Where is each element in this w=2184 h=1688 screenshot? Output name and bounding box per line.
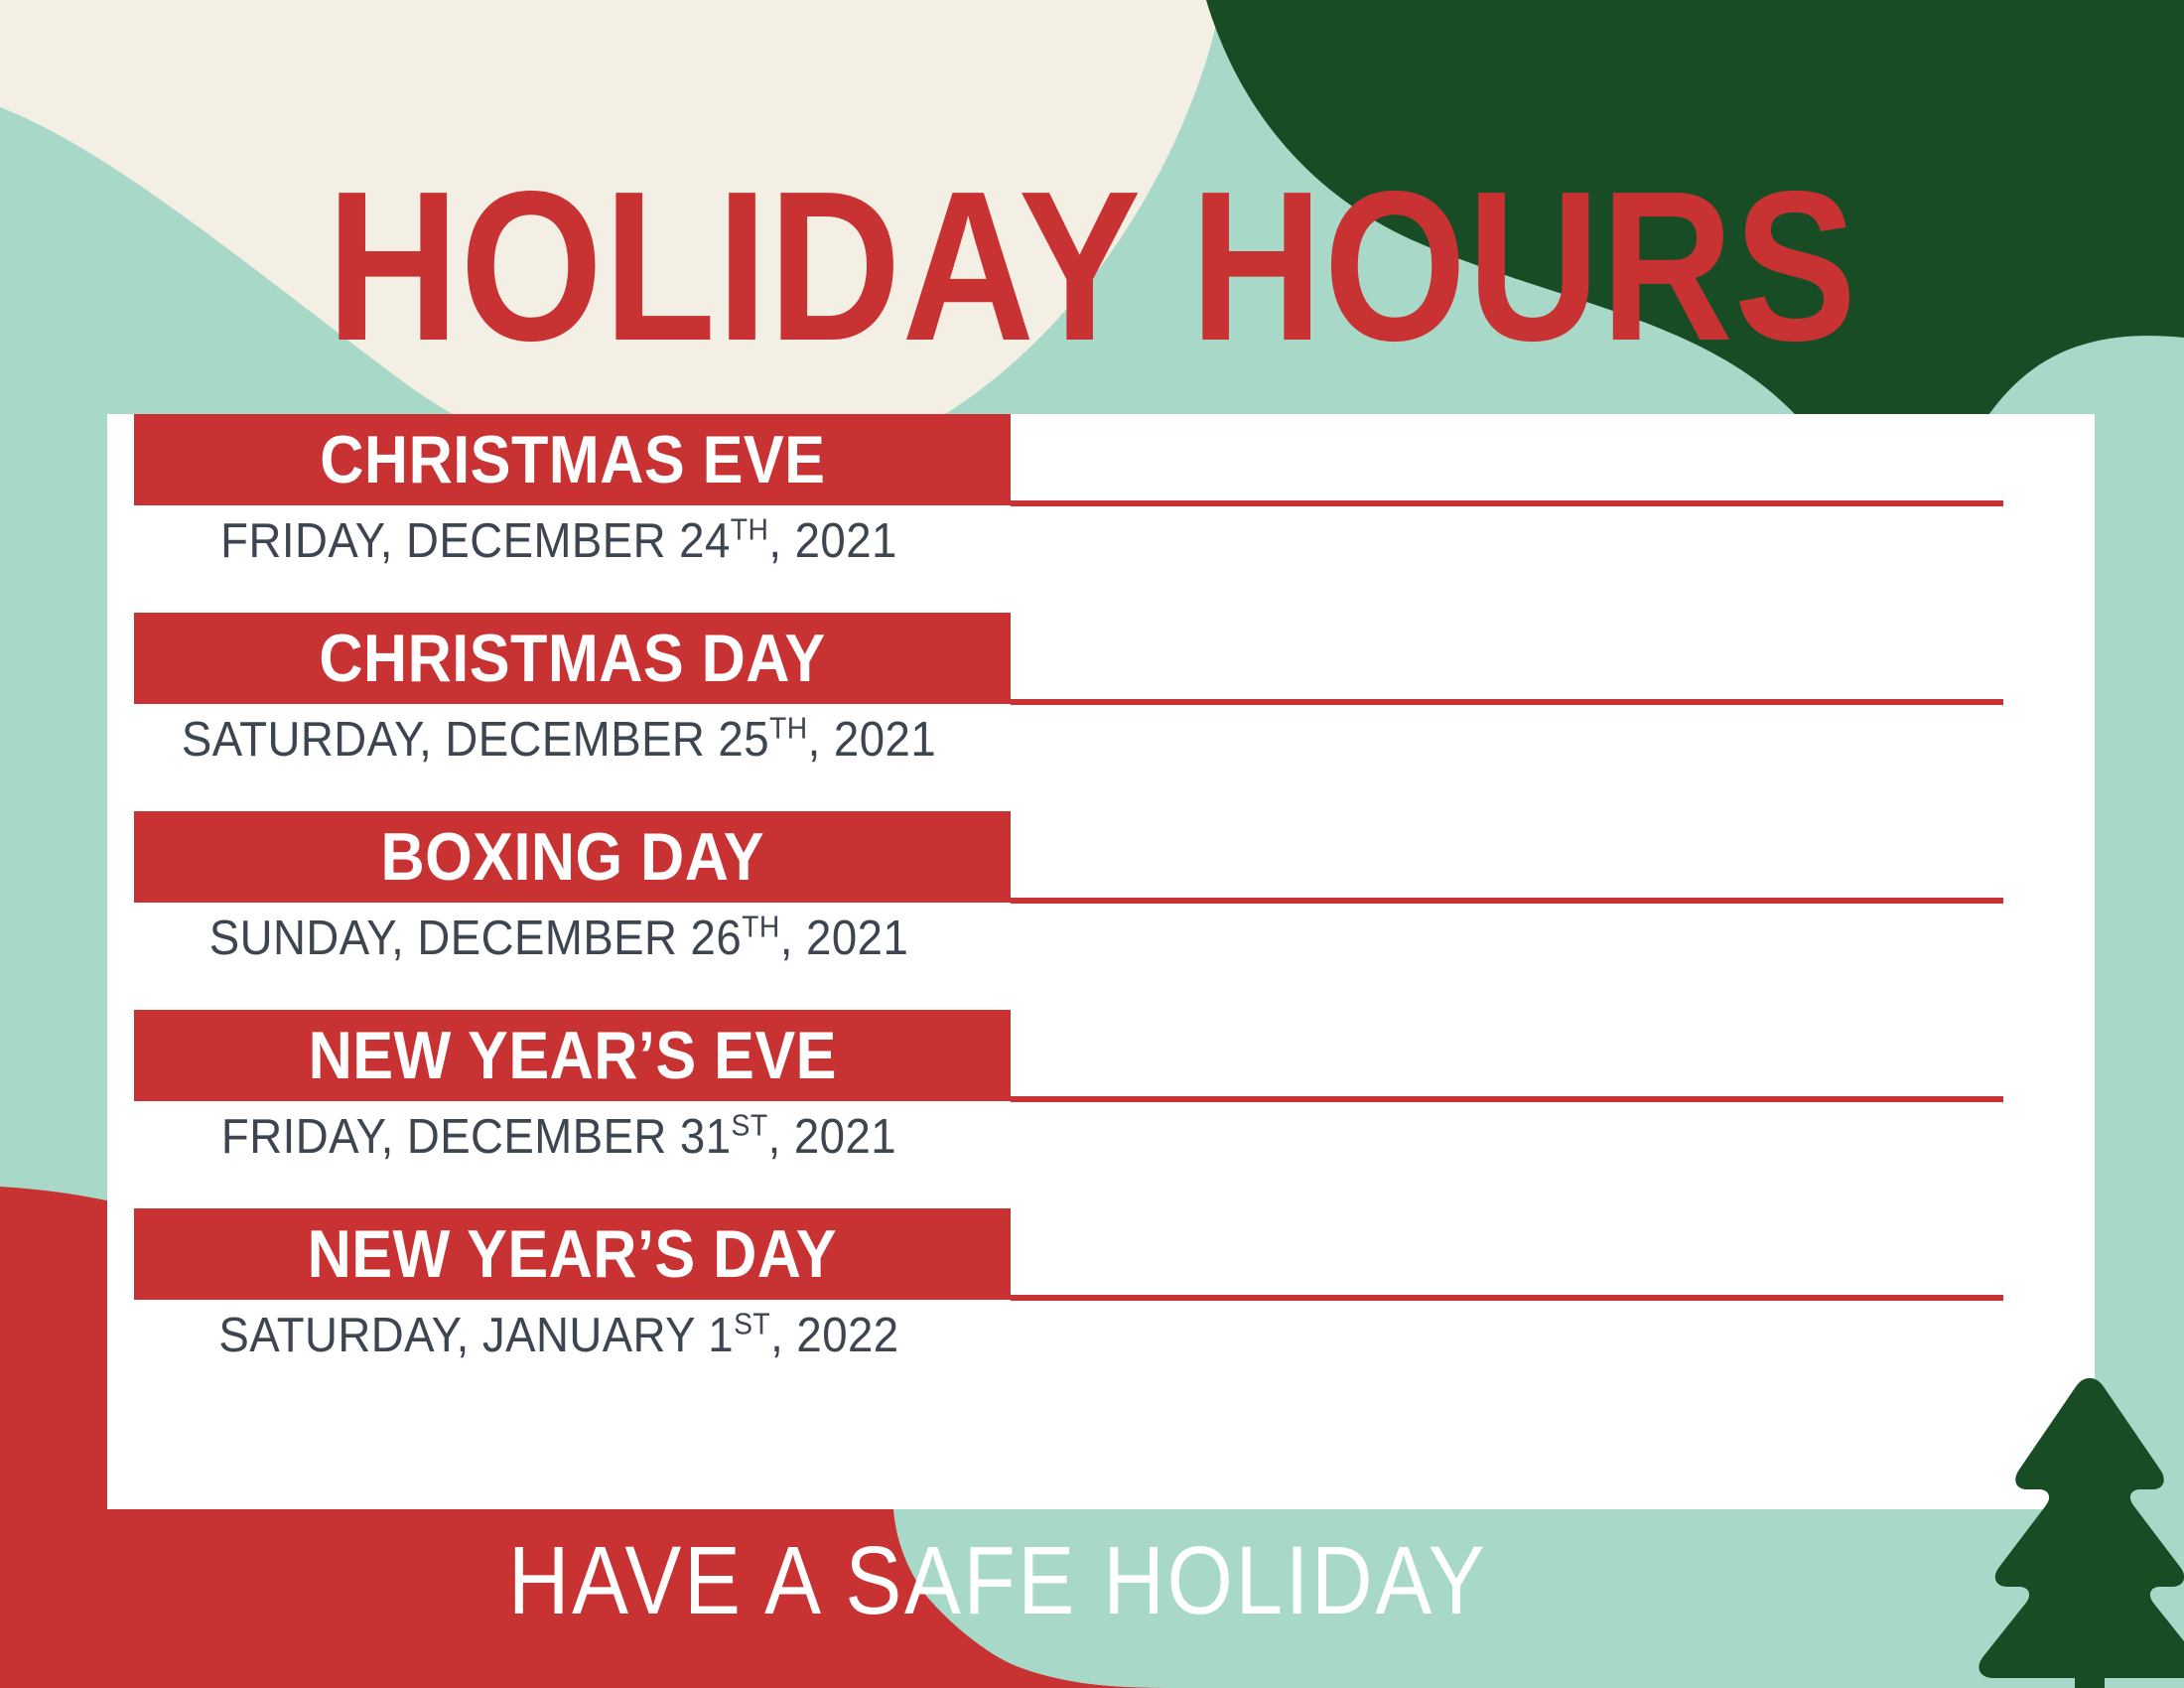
holiday-date-suffix: , 2021 (808, 713, 936, 767)
holiday-name: CHRISTMAS EVE (320, 426, 825, 493)
holiday-date-ordinal: ST (732, 1109, 768, 1143)
hours-rule-line (1011, 500, 2003, 506)
holiday-date-ordinal: TH (769, 712, 808, 746)
holiday-date: FRIDAY, DECEMBER 31ST, 2021 (139, 1107, 979, 1167)
holiday-tag-wrapper: BOXING DAY (134, 811, 1011, 903)
schedule-card: CHRISTMAS EVE FRIDAY, DECEMBER 24TH, 202… (107, 414, 2095, 1509)
holiday-tag: BOXING DAY (134, 811, 1011, 903)
page-title: HOLIDAY HOURS (153, 167, 2031, 365)
hours-rule-line (1011, 898, 2003, 904)
holiday-name: NEW YEAR’S EVE (308, 1022, 836, 1089)
holiday-date-ordinal: ST (734, 1308, 770, 1341)
holiday-date-suffix: , 2021 (768, 1110, 896, 1164)
holiday-date-suffix: , 2021 (780, 912, 908, 965)
holiday-date-suffix: , 2022 (770, 1309, 898, 1362)
footer-message: HAVE A SAFE HOLIDAY (120, 1529, 1876, 1632)
holiday-date: FRIDAY, DECEMBER 24TH, 2021 (139, 511, 979, 571)
holiday-date-prefix: SATURDAY, JANUARY 1 (218, 1309, 734, 1362)
holiday-date-ordinal: TH (742, 911, 780, 944)
holiday-date: SUNDAY, DECEMBER 26TH, 2021 (139, 909, 979, 968)
holiday-name: CHRISTMAS DAY (319, 625, 825, 692)
holiday-tag: NEW YEAR’S EVE (134, 1010, 1011, 1101)
holiday-date-suffix: , 2021 (768, 514, 896, 568)
holiday-tag: NEW YEAR’S DAY (134, 1208, 1011, 1300)
hours-rule-line (1011, 699, 2003, 705)
holiday-date-prefix: SUNDAY, DECEMBER 26 (209, 912, 742, 965)
holiday-date-ordinal: TH (731, 513, 769, 547)
holiday-hours-poster: HOLIDAY HOURS CHRISTMAS EVE FRIDAY, DECE… (0, 0, 2184, 1688)
holiday-tag: CHRISTMAS EVE (134, 414, 1011, 505)
christmas-tree-icon (1966, 1370, 2184, 1688)
holiday-tag-wrapper: NEW YEAR’S DAY (134, 1208, 1011, 1300)
holiday-date-prefix: FRIDAY, DECEMBER 31 (221, 1110, 732, 1164)
holiday-name: NEW YEAR’S DAY (308, 1220, 837, 1288)
holiday-name: BOXING DAY (380, 823, 764, 891)
holiday-tag-wrapper: CHRISTMAS EVE (134, 414, 1011, 505)
tree-body (1979, 1378, 2184, 1688)
holiday-date-prefix: SATURDAY, DECEMBER 25 (182, 713, 769, 767)
holiday-date-prefix: FRIDAY, DECEMBER 24 (220, 514, 731, 568)
hours-rule-line (1011, 1295, 2003, 1301)
hours-rule-line (1011, 1096, 2003, 1102)
holiday-tag: CHRISTMAS DAY (134, 613, 1011, 704)
holiday-date: SATURDAY, DECEMBER 25TH, 2021 (139, 710, 979, 770)
holiday-tag-wrapper: CHRISTMAS DAY (134, 613, 1011, 704)
holiday-tag-wrapper: NEW YEAR’S EVE (134, 1010, 1011, 1101)
holiday-date: SATURDAY, JANUARY 1ST, 2022 (139, 1306, 979, 1365)
